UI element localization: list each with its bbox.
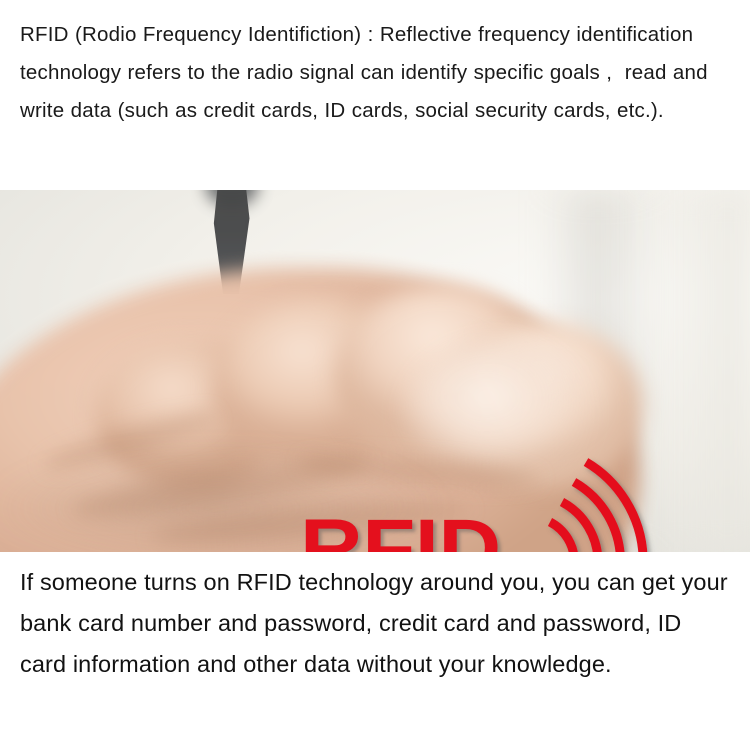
rfid-hero-photo: RFID: [0, 190, 750, 552]
radio-wave-icon: [546, 446, 750, 552]
product-description-page: RFID (Rodio Frequency Identifiction) : R…: [0, 0, 750, 750]
rfid-definition-paragraph: RFID (Rodio Frequency Identifiction) : R…: [0, 0, 750, 190]
rfid-logo: RFID: [300, 508, 700, 552]
rfid-warning-paragraph: If someone turns on RFID technology arou…: [0, 552, 750, 750]
rfid-wordmark: RFID: [300, 508, 501, 552]
